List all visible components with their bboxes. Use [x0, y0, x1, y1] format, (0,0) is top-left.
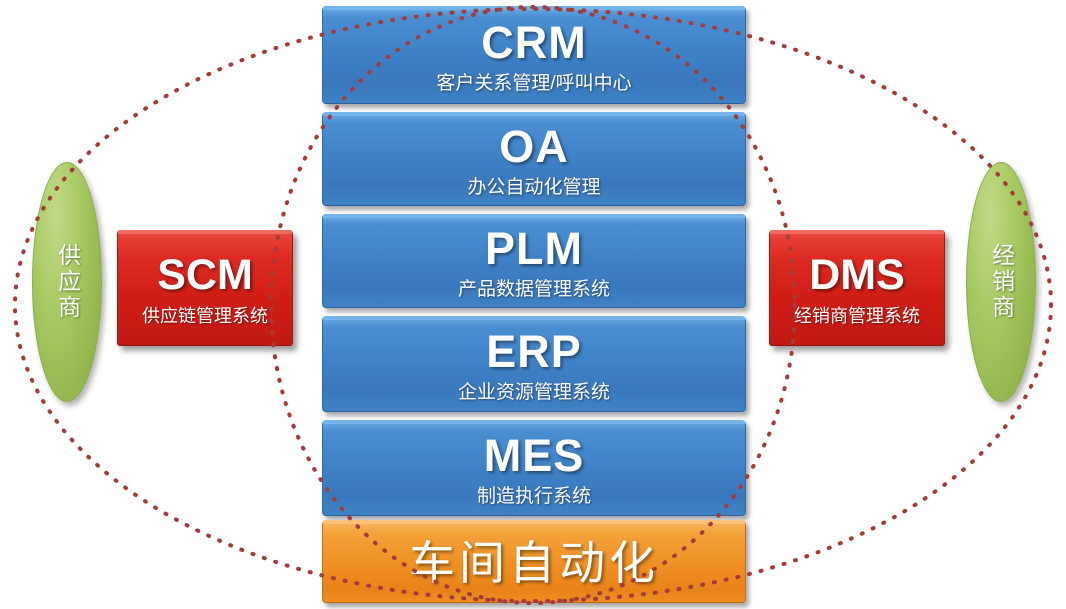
- box-erp[interactable]: ERP 企业资源管理系统: [322, 316, 746, 412]
- box-mes-desc: 制造执行系统: [477, 487, 591, 506]
- box-dms-desc: 经销商管理系统: [794, 307, 920, 325]
- box-dms-abbr: DMS: [809, 254, 905, 297]
- box-scm-abbr: SCM: [157, 254, 253, 297]
- box-dms[interactable]: DMS 经销商管理系统: [769, 230, 945, 346]
- box-plm-abbr: PLM: [485, 226, 583, 271]
- box-workshop-automation[interactable]: 车间自动化: [322, 520, 746, 603]
- box-oa-abbr: OA: [499, 124, 569, 169]
- box-scm-desc: 供应链管理系统: [142, 307, 268, 325]
- box-crm-desc: 客户关系管理/呼叫中心: [436, 74, 631, 93]
- box-mes[interactable]: MES 制造执行系统: [322, 420, 746, 516]
- box-mes-abbr: MES: [484, 433, 585, 478]
- ellipse-supplier-label: 供应商: [53, 243, 80, 321]
- center-system-stack: CRM 客户关系管理/呼叫中心 OA 办公自动化管理 PLM 产品数据管理系统 …: [322, 0, 746, 609]
- box-oa-desc: 办公自动化管理: [467, 178, 600, 197]
- diagram-canvas: 供应商 经销商 SCM 供应链管理系统 DMS 经销商管理系统 CRM 客户关系…: [0, 0, 1066, 609]
- box-erp-desc: 企业资源管理系统: [458, 383, 610, 402]
- box-oa[interactable]: OA 办公自动化管理: [322, 112, 746, 206]
- box-plm[interactable]: PLM 产品数据管理系统: [322, 214, 746, 308]
- box-crm[interactable]: CRM 客户关系管理/呼叫中心: [322, 6, 746, 104]
- ellipse-dealer-label: 经销商: [987, 243, 1014, 321]
- box-workshop-automation-label: 车间自动化: [409, 540, 659, 586]
- box-crm-abbr: CRM: [481, 20, 586, 65]
- ellipse-supplier[interactable]: 供应商: [32, 162, 102, 402]
- box-scm[interactable]: SCM 供应链管理系统: [117, 230, 293, 346]
- box-erp-abbr: ERP: [486, 329, 582, 374]
- ellipse-dealer[interactable]: 经销商: [966, 162, 1036, 402]
- box-plm-desc: 产品数据管理系统: [458, 280, 610, 299]
